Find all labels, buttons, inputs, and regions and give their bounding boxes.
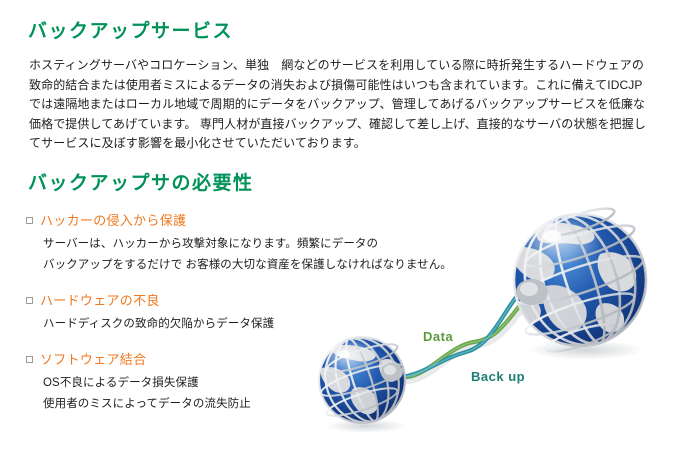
section-title-necessity: バックアップサの必要性 xyxy=(28,168,254,195)
intro-line-5: てサービスに及ぼす影響を最小化させていただいております。 xyxy=(29,134,637,154)
list-item: ハードウェアの不良 ハードディスクの致命的欠陥からデータ保護 xyxy=(26,290,456,335)
list-item-title: ハードウェアの不良 xyxy=(40,290,160,309)
list-item-body-line: OS不良によるデータ損失保護 xyxy=(43,373,456,394)
list-item-header: ハッカーの侵入から保護 xyxy=(26,210,456,229)
list-item: ハッカーの侵入から保護 サーバーは、ハッカーから攻撃対象になります。頻繁にデータ… xyxy=(26,210,456,276)
list-item-body-line: サーバーは、ハッカーから攻撃対象になります。頻繁にデータの xyxy=(43,234,456,255)
square-bullet-icon xyxy=(26,217,33,224)
list-item-body: OS不良によるデータ損失保護 使用者のミスによってデータの流失防止 xyxy=(43,373,456,415)
list-item-body-line: バックアップをするだけで お客様の大切な資産を保護しなければなりません。 xyxy=(43,255,456,276)
intro-line-4: 価格で提供してあげています。 専門人材が直接バックアップ、確認して差し上げ、直接… xyxy=(29,115,637,135)
feature-list: ハッカーの侵入から保護 サーバーは、ハッカーから攻撃対象になります。頻繁にデータ… xyxy=(26,210,456,429)
page-root: バックアップサービス ホスティングサーバやコロケーション、単独 網などのサービス… xyxy=(0,0,680,460)
list-item: ソフトウェア結合 OS不良によるデータ損失保護 使用者のミスによってデータの流失… xyxy=(26,349,456,415)
square-bullet-icon xyxy=(26,356,33,363)
list-item-body-line: ハードディスクの致命的欠陥からデータ保護 xyxy=(43,314,456,335)
page-title: バックアップサービス xyxy=(28,16,233,43)
data-cable-label: Data xyxy=(423,329,453,344)
list-item-title: ハッカーの侵入から保護 xyxy=(40,210,186,229)
square-bullet-icon xyxy=(26,297,33,304)
list-item-body-line: 使用者のミスによってデータの流失防止 xyxy=(43,394,456,415)
intro-paragraph: ホスティングサーバやコロケーション、単独 網などのサービスを利用している際に時折… xyxy=(29,56,637,154)
list-item-title: ソフトウェア結合 xyxy=(40,349,146,368)
intro-line-2: 致命的結合または使用者ミスによるデータの消失および損傷可能性はいつも含まれていま… xyxy=(29,76,637,96)
list-item-body: ハードディスクの致命的欠陥からデータ保護 xyxy=(43,314,456,335)
globe-large xyxy=(508,201,652,386)
intro-line-1: ホスティングサーバやコロケーション、単独 網などのサービスを利用している際に時折… xyxy=(29,56,637,76)
list-item-body: サーバーは、ハッカーから攻撃対象になります。頻繁にデータの バックアップをするだ… xyxy=(43,234,456,276)
backup-cable-label: Back up xyxy=(471,369,525,384)
intro-line-3: では遠隔地またはローカル地域で周期的にデータをバックアップ、管理してあげるバック… xyxy=(29,95,637,115)
list-item-header: ソフトウェア結合 xyxy=(26,349,456,368)
list-item-header: ハードウェアの不良 xyxy=(26,290,456,309)
